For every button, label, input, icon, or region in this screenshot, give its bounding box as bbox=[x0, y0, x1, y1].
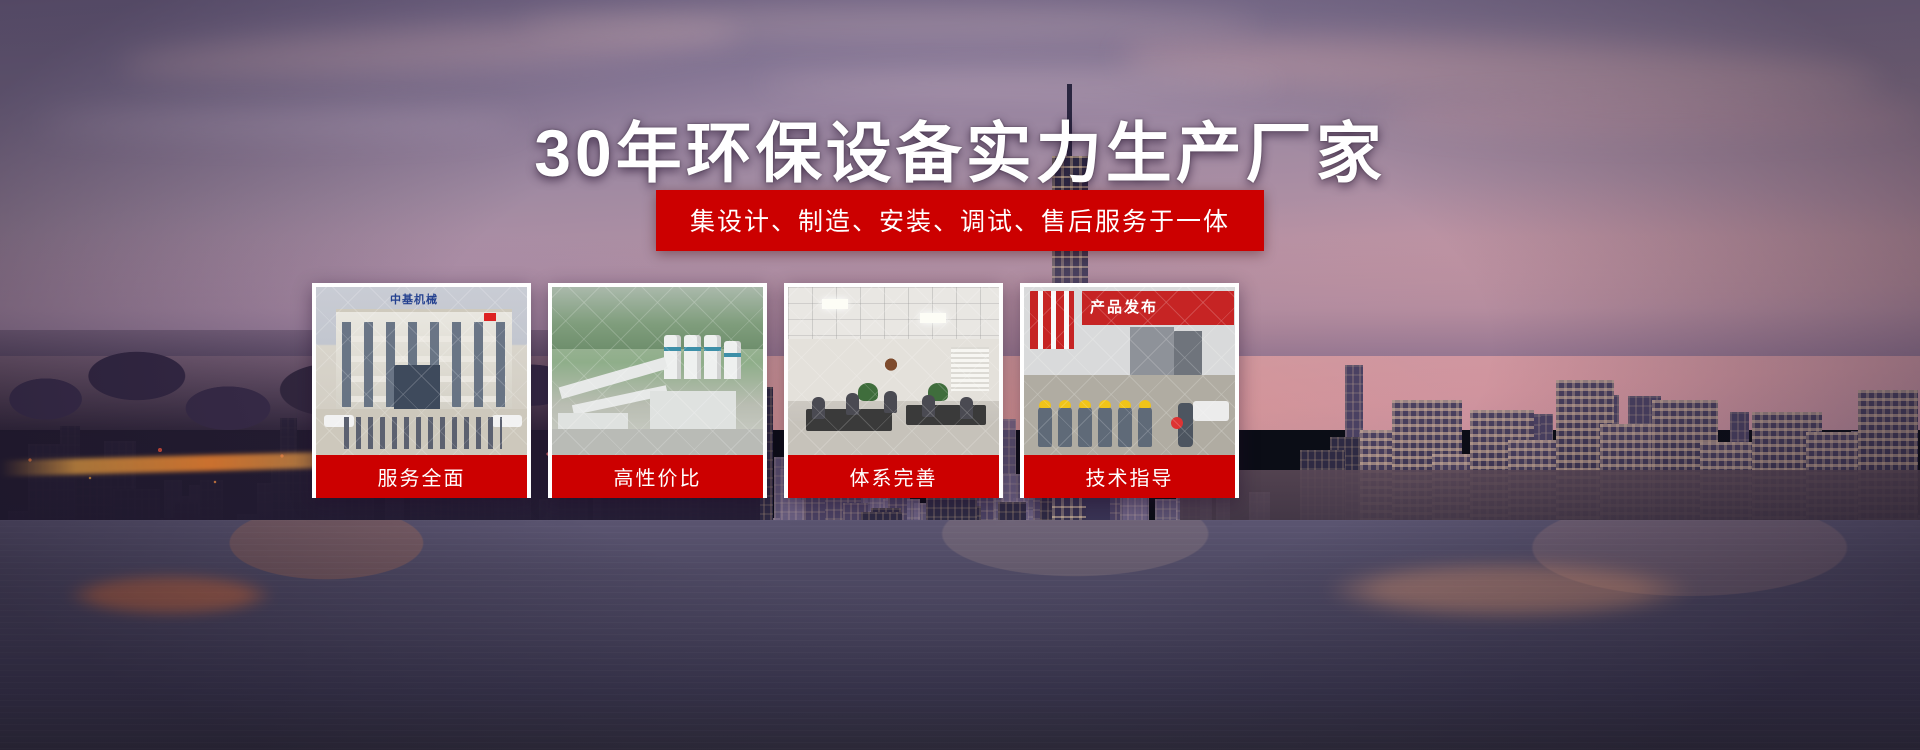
ceiling-light bbox=[920, 313, 946, 323]
desk bbox=[906, 405, 986, 425]
feature-card-list: 中基机械 服务全面 bbox=[312, 283, 1560, 498]
worker bbox=[1058, 407, 1072, 447]
staff-lineup bbox=[344, 417, 502, 449]
card-thumbnail-factory-workers: 产品发布 bbox=[1024, 287, 1235, 455]
silo bbox=[664, 335, 681, 379]
building-entrance bbox=[394, 365, 440, 413]
worker bbox=[1078, 407, 1092, 447]
ceiling-light bbox=[822, 299, 848, 309]
factory-sign-text: 产品发布 bbox=[1090, 296, 1158, 317]
feature-card[interactable]: 高性价比 bbox=[548, 283, 767, 498]
factory-gate bbox=[1174, 331, 1202, 379]
supervisor bbox=[1178, 403, 1193, 447]
card-label: 技术指导 bbox=[1024, 455, 1235, 498]
window-blind bbox=[951, 347, 989, 391]
flag-icon bbox=[484, 313, 496, 321]
card-thumbnail-office-building: 中基机械 bbox=[316, 287, 527, 455]
green-field bbox=[552, 287, 763, 349]
worker bbox=[1118, 407, 1132, 447]
feature-card[interactable]: 中基机械 服务全面 bbox=[312, 283, 531, 498]
card-thumbnail-office-interior bbox=[788, 287, 999, 455]
banner-content: 30年环保设备实力生产厂家 集设计、制造、安装、调试、售后服务于一体 中基机械 … bbox=[0, 0, 1920, 750]
subtitle-banner: 集设计、制造、安装、调试、售后服务于一体 bbox=[656, 190, 1264, 251]
hero-banner: 30年环保设备实力生产厂家 集设计、制造、安装、调试、售后服务于一体 中基机械 … bbox=[0, 0, 1920, 750]
factory-red-sign: 产品发布 bbox=[1082, 291, 1234, 325]
site-road bbox=[552, 429, 763, 455]
person bbox=[884, 391, 897, 413]
parked-van bbox=[1193, 401, 1229, 421]
vertical-red-slogan bbox=[1030, 291, 1074, 349]
page-title: 30年环保设备实力生产厂家 bbox=[0, 100, 1920, 196]
feature-card[interactable]: 体系完善 bbox=[784, 283, 1003, 498]
factory-door bbox=[1130, 327, 1174, 379]
card-label: 体系完善 bbox=[788, 455, 999, 498]
silo bbox=[684, 335, 701, 379]
person bbox=[960, 397, 973, 419]
building-sign-text: 中基机械 bbox=[368, 291, 460, 306]
wall-decal bbox=[874, 349, 908, 375]
ceiling-grid bbox=[788, 287, 999, 339]
card-label: 服务全面 bbox=[316, 455, 527, 498]
card-label: 高性价比 bbox=[552, 455, 763, 498]
worker bbox=[1138, 407, 1152, 447]
warehouse-shed bbox=[650, 391, 736, 431]
person bbox=[922, 395, 935, 417]
silo bbox=[704, 335, 721, 379]
card-thumbnail-plant-aerial bbox=[552, 287, 763, 455]
potted-plant bbox=[858, 383, 878, 401]
worker bbox=[1098, 407, 1112, 447]
feature-card[interactable]: 产品发布 技术指导 bbox=[1020, 283, 1239, 498]
worker bbox=[1038, 407, 1052, 447]
silo bbox=[724, 341, 741, 379]
person bbox=[812, 397, 825, 419]
person bbox=[846, 393, 859, 415]
